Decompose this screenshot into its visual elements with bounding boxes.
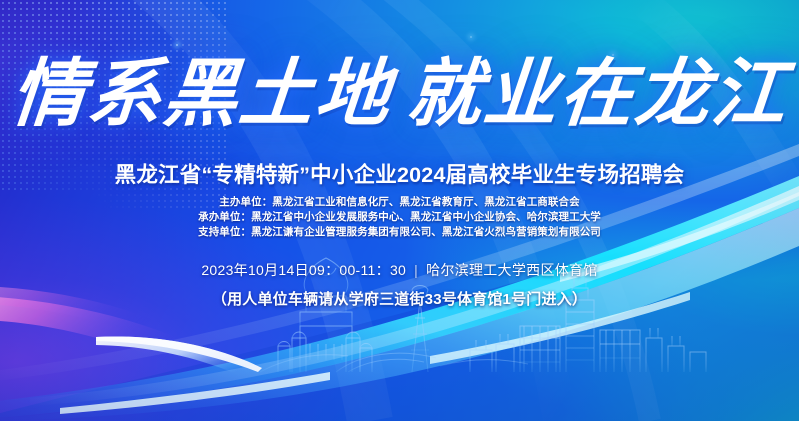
datetime-separator: | xyxy=(414,262,418,278)
parking-note: （用人单位车辆请从学府三道街33号体育馆1号门进入） xyxy=(0,288,799,309)
main-title-segment-1: 情系黑土地 xyxy=(8,51,396,137)
organizer-line-host: 主办单位：黑龙江省工业和信息化厅、黑龙江省教育厅、黑龙江省工商联合会 xyxy=(0,195,799,210)
organizer-line-supporter: 支持单位：黑龙江谦有企业管理服务集团有限公司、黑龙江省火烈鸟营销策划有限公司 xyxy=(0,225,799,240)
poster-content: 情系黑土地就业在龙江 黑龙江省“专精特新”中小企业2024届高校毕业生专场招聘会… xyxy=(0,0,799,421)
main-title-segment-2: 就业在龙江 xyxy=(404,51,792,137)
organizer-block: 主办单位：黑龙江省工业和信息化厅、黑龙江省教育厅、黑龙江省工商联合会 承办单位：… xyxy=(0,195,799,241)
main-title: 情系黑土地就业在龙江 xyxy=(0,48,799,140)
event-venue: 哈尔滨理工大学西区体育馆 xyxy=(426,262,598,278)
recruitment-poster: 情系黑土地就业在龙江 黑龙江省“专精特新”中小企业2024届高校毕业生专场招聘会… xyxy=(0,0,799,421)
organizer-line-undertaker: 承办单位：黑龙江省中小企业发展服务中心、黑龙江省中小企业协会、哈尔滨理工大学 xyxy=(0,210,799,225)
datetime-venue: 2023年10月14日09：00-11：30|哈尔滨理工大学西区体育馆 xyxy=(0,260,799,280)
subtitle: 黑龙江省“专精特新”中小企业2024届高校毕业生专场招聘会 xyxy=(0,158,799,189)
event-datetime: 2023年10月14日09：00-11：30 xyxy=(201,262,406,278)
